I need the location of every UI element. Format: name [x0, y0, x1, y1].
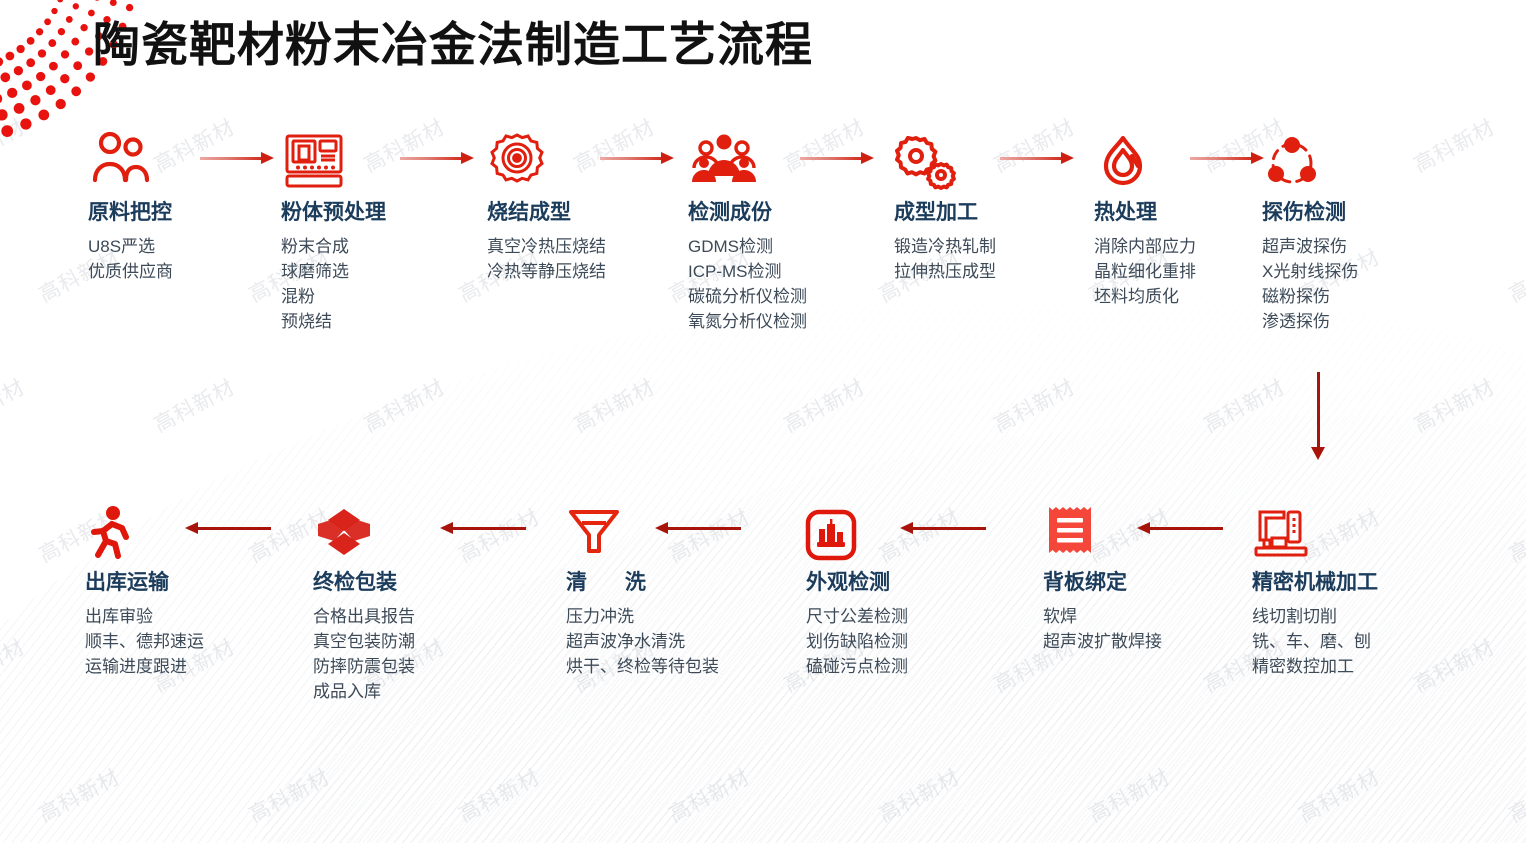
- process-step-item: 氧氮分析仪检测: [688, 310, 883, 335]
- process-step-item: 消除内部应力: [1094, 235, 1254, 260]
- process-step-item: 粉末合成: [281, 235, 476, 260]
- process-step-item: 冷热等静压烧结: [487, 260, 677, 285]
- connector-arrow-right: [400, 152, 474, 164]
- watermark-text: 高科新材: [33, 761, 125, 829]
- process-step-item: 软焊: [1043, 605, 1218, 630]
- watermark-layer: 高科新材高科新材高科新材高科新材高科新材高科新材高科新材高科新材高科新材高科新材…: [0, 0, 1526, 843]
- process-step-item: 防摔防震包装: [313, 655, 488, 680]
- process-step-item: 合格出具报告: [313, 605, 488, 630]
- process-step-item-list: 合格出具报告真空包装防潮防摔防震包装成品入库: [313, 605, 488, 705]
- process-step-item-list: 粉末合成球磨筛选混粉预烧结: [281, 235, 476, 335]
- process-step-item: GDMS检测: [688, 235, 883, 260]
- arrow-head: [1251, 152, 1264, 164]
- connector-arrow-left: [1137, 522, 1223, 534]
- watermark-text: 高科新材: [1198, 371, 1290, 439]
- arrow-head: [440, 522, 453, 534]
- process-step-title: 粉体预处理: [281, 196, 476, 226]
- process-step-item: 锻造冷热轧制: [894, 235, 1084, 260]
- arrow-head: [461, 152, 474, 164]
- watermark-text: 高科新材: [873, 761, 965, 829]
- process-step-item-list: GDMS检测ICP-MS检测碳硫分析仪检测氧氮分析仪检测: [688, 235, 883, 335]
- process-step-item-list: 出库审验顺丰、德邦速运运输进度跟进: [85, 605, 265, 680]
- process-step-item: 晶粒细化重排: [1094, 260, 1254, 285]
- process-step-title: 探伤检测: [1262, 196, 1442, 226]
- watermark-text: 高科新材: [1503, 241, 1526, 309]
- arrow-head: [655, 522, 668, 534]
- watermark-text: 高科新材: [988, 371, 1080, 439]
- watermark-text: 高科新材: [1408, 371, 1500, 439]
- process-step-item: ICP-MS检测: [688, 260, 883, 285]
- cnc-machine-icon: [1252, 498, 1442, 560]
- process-step-item: 磕碰污点检测: [806, 655, 986, 680]
- connector-arrow-right: [1000, 152, 1074, 164]
- process-step-item: 压力冲洗: [566, 605, 746, 630]
- process-step-item: 顺丰、德邦速运: [85, 630, 265, 655]
- connector-arrow-left: [185, 522, 271, 534]
- arrow-head: [661, 152, 674, 164]
- connector-arrow-right: [200, 152, 274, 164]
- process-step-item: 渗透探伤: [1262, 310, 1442, 335]
- connector-arrow-left: [900, 522, 986, 534]
- process-step-item: 精密数控加工: [1252, 655, 1442, 680]
- watermark-text: 高科新材: [243, 761, 335, 829]
- arrow-head: [1061, 152, 1074, 164]
- watermark-text: 高科新材: [0, 371, 30, 439]
- process-step-title: 终检包装: [313, 566, 488, 596]
- connector-arrow-right: [600, 152, 674, 164]
- process-step-item: 超声波探伤: [1262, 235, 1442, 260]
- process-step-item: 铣、车、磨、刨: [1252, 630, 1442, 655]
- arrow-head: [1311, 447, 1325, 460]
- arrow-shaft: [452, 527, 526, 530]
- watermark-text: 高科新材: [0, 631, 30, 699]
- process-step-item-list: 消除内部应力晶粒细化重排坯料均质化: [1094, 235, 1254, 310]
- watermark-text: 高科新材: [663, 761, 755, 829]
- arrow-shaft: [600, 157, 662, 160]
- process-step-item: 运输进度跟进: [85, 655, 265, 680]
- process-step-item-list: 线切割切削铣、车、磨、刨精密数控加工: [1252, 605, 1442, 680]
- arrow-head: [861, 152, 874, 164]
- process-step-title: 热处理: [1094, 196, 1254, 226]
- three-dots-cycle-icon: [1262, 128, 1442, 190]
- process-step-item: 成品入库: [313, 680, 488, 705]
- arrow-shaft: [800, 157, 862, 160]
- process-step-item: 线切割切削: [1252, 605, 1442, 630]
- watermark-text: 高科新材: [0, 111, 30, 179]
- connector-arrow-right: [800, 152, 874, 164]
- connector-arrow-right: [1190, 152, 1264, 164]
- infographic-canvas: 高科新材高科新材高科新材高科新材高科新材高科新材高科新材高科新材高科新材高科新材…: [0, 0, 1526, 843]
- arrow-shaft: [667, 527, 741, 530]
- watermark-text: 高科新材: [1503, 501, 1526, 569]
- process-step-title: 外观检测: [806, 566, 986, 596]
- watermark-text: 高科新材: [148, 371, 240, 439]
- connector-arrow-left: [440, 522, 526, 534]
- process-step-title: 成型加工: [894, 196, 1084, 226]
- arrow-shaft: [1317, 372, 1320, 448]
- arrow-head: [185, 522, 198, 534]
- watermark-text: 高科新材: [358, 371, 450, 439]
- arrow-shaft: [400, 157, 462, 160]
- process-step-item: 拉伸热压成型: [894, 260, 1084, 285]
- process-step-item-list: U8S严选优质供应商: [88, 235, 268, 285]
- process-step-item: 真空包装防潮: [313, 630, 488, 655]
- process-step-title: 精密机械加工: [1252, 566, 1442, 596]
- process-step-item-list: 真空冷热压烧结冷热等静压烧结: [487, 235, 677, 285]
- arrow-head: [900, 522, 913, 534]
- arrow-shaft: [197, 527, 271, 530]
- process-step-item-list: 超声波探伤X光射线探伤磁粉探伤渗透探伤: [1262, 235, 1442, 335]
- arrow-head: [1137, 522, 1150, 534]
- process-step-title: 烧结成型: [487, 196, 677, 226]
- arrow-shaft: [1000, 157, 1062, 160]
- process-step-item: 磁粉探伤: [1262, 285, 1442, 310]
- process-step-item: 尺寸公差检测: [806, 605, 986, 630]
- watermark-text: 高科新材: [568, 371, 660, 439]
- process-step-item: X光射线探伤: [1262, 260, 1442, 285]
- watermark-text: 高科新材: [778, 371, 870, 439]
- process-step-item: 坯料均质化: [1094, 285, 1254, 310]
- process-step-item: 真空冷热压烧结: [487, 235, 677, 260]
- arrow-shaft: [200, 157, 262, 160]
- process-step-item: 优质供应商: [88, 260, 268, 285]
- process-step-item: 划伤缺陷检测: [806, 630, 986, 655]
- watermark-text: 高科新材: [453, 761, 545, 829]
- process-step-title: 出库运输: [85, 566, 265, 596]
- watermark-text: 高科新材: [1293, 761, 1385, 829]
- arrow-shaft: [1149, 527, 1223, 530]
- process-step-item: U8S严选: [88, 235, 268, 260]
- process-step-item: 混粉: [281, 285, 476, 310]
- process-step-title: 原料把控: [88, 196, 268, 226]
- watermark-text: 高科新材: [1083, 761, 1175, 829]
- process-step-item-list: 压力冲洗超声波净水清洗烘干、终检等待包装: [566, 605, 746, 680]
- connector-arrow-left: [655, 522, 741, 534]
- process-step-item-list: 软焊超声波扩散焊接: [1043, 605, 1218, 655]
- process-step-item: 超声波净水清洗: [566, 630, 746, 655]
- page-title: 陶瓷靶材粉末冶金法制造工艺流程: [93, 6, 813, 75]
- process-step-item-list: 尺寸公差检测划伤缺陷检测磕碰污点检测: [806, 605, 986, 680]
- process-step-item: 烘干、终检等待包装: [566, 655, 746, 680]
- process-step: 探伤检测超声波探伤X光射线探伤磁粉探伤渗透探伤: [1262, 128, 1442, 335]
- arrow-shaft: [912, 527, 986, 530]
- process-step-item-list: 锻造冷热轧制拉伸热压成型: [894, 235, 1084, 285]
- process-step-item: 超声波扩散焊接: [1043, 630, 1218, 655]
- process-step-item: 出库审验: [85, 605, 265, 630]
- watermark-text: 高科新材: [1503, 761, 1526, 829]
- process-step-title: 清 洗: [566, 566, 746, 596]
- arrow-head: [261, 152, 274, 164]
- arrow-shaft: [1190, 157, 1252, 160]
- connector-arrow-down: [1311, 372, 1325, 460]
- process-step-title: 背板绑定: [1043, 566, 1218, 596]
- process-step-item: 球磨筛选: [281, 260, 476, 285]
- process-step-item: 预烧结: [281, 310, 476, 335]
- process-step-title: 检测成份: [688, 196, 883, 226]
- process-step: 精密机械加工线切割切削铣、车、磨、刨精密数控加工: [1252, 498, 1442, 680]
- process-step-item: 碳硫分析仪检测: [688, 285, 883, 310]
